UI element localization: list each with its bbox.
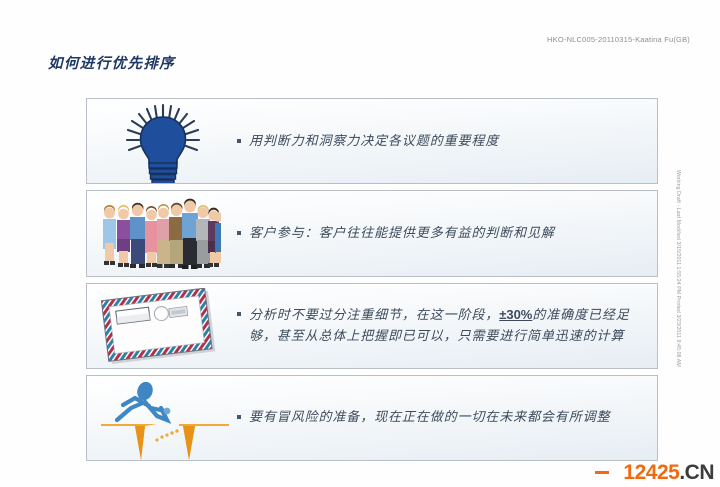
row-text-cell: 分析时不要过分注重细节，在这一阶段，±30%的准确度已经足够，甚至从总体上把握即…	[237, 304, 657, 347]
page-title: 如何进行优先排序	[48, 52, 175, 73]
row-icon-cell	[87, 191, 237, 275]
row-text-cell: 客户参与：客户往往能提供更多有益的判断和见解	[237, 223, 657, 244]
group-of-people-icon	[99, 197, 221, 269]
bullet-marker	[237, 139, 241, 143]
row-icon-cell	[87, 284, 237, 368]
bullet-marker	[237, 312, 241, 316]
row-text-cell: 用判断力和洞察力决定各议题的重要程度	[237, 131, 657, 152]
row-text: 分析时不要过分注重细节，在这一阶段，±30%的准确度已经足够，甚至从总体上把握即…	[249, 304, 639, 347]
row-text-percent: ±30%	[499, 307, 532, 322]
bullet-marker	[237, 231, 241, 235]
list-item[interactable]: 分析时不要过分注重细节，在这一阶段，±30%的准确度已经足够，甚至从总体上把握即…	[86, 283, 658, 369]
lightbulb-icon	[115, 103, 211, 184]
row-text: 要有冒风险的准备，现在正在做的一切在未来都会有所调整	[249, 407, 610, 428]
runner-jumping-gap-icon	[101, 378, 229, 460]
row-icon-cell	[87, 99, 237, 183]
watermark-dash	[595, 471, 609, 474]
row-text-part-1: 分析时不要过分注重细节，在这一阶段，	[249, 308, 499, 323]
row-text: 客户参与：客户往往能提供更多有益的判断和见解	[249, 223, 555, 244]
watermark: 12425.CN	[623, 462, 714, 483]
document-code-header: HKO-NLC005-20110315-Kaatina Fu(GB)	[547, 35, 690, 44]
watermark-number: 12425	[623, 461, 679, 484]
watermark-tld: CN	[685, 461, 714, 484]
list-item[interactable]: 要有冒风险的准备，现在正在做的一切在未来都会有所调整	[86, 375, 658, 461]
slide-canvas: HKO-NLC005-20110315-Kaatina Fu(GB) 如何进行优…	[0, 0, 720, 487]
row-text-cell: 要有冒风险的准备，现在正在做的一切在未来都会有所调整	[237, 407, 657, 428]
content-rows-list: 用判断力和洞察力决定各议题的重要程度	[86, 98, 658, 461]
row-text: 用判断力和洞察力决定各议题的重要程度	[249, 131, 499, 152]
slide-side-footer-note: Working Draft - Last Modified 3/15/2011 …	[669, 170, 681, 460]
airmail-envelope-icon	[97, 288, 222, 366]
list-item[interactable]: 用判断力和洞察力决定各议题的重要程度	[86, 98, 658, 184]
row-icon-cell	[87, 376, 237, 460]
list-item[interactable]: 客户参与：客户往往能提供更多有益的判断和见解	[86, 190, 658, 276]
bullet-marker	[237, 415, 241, 419]
